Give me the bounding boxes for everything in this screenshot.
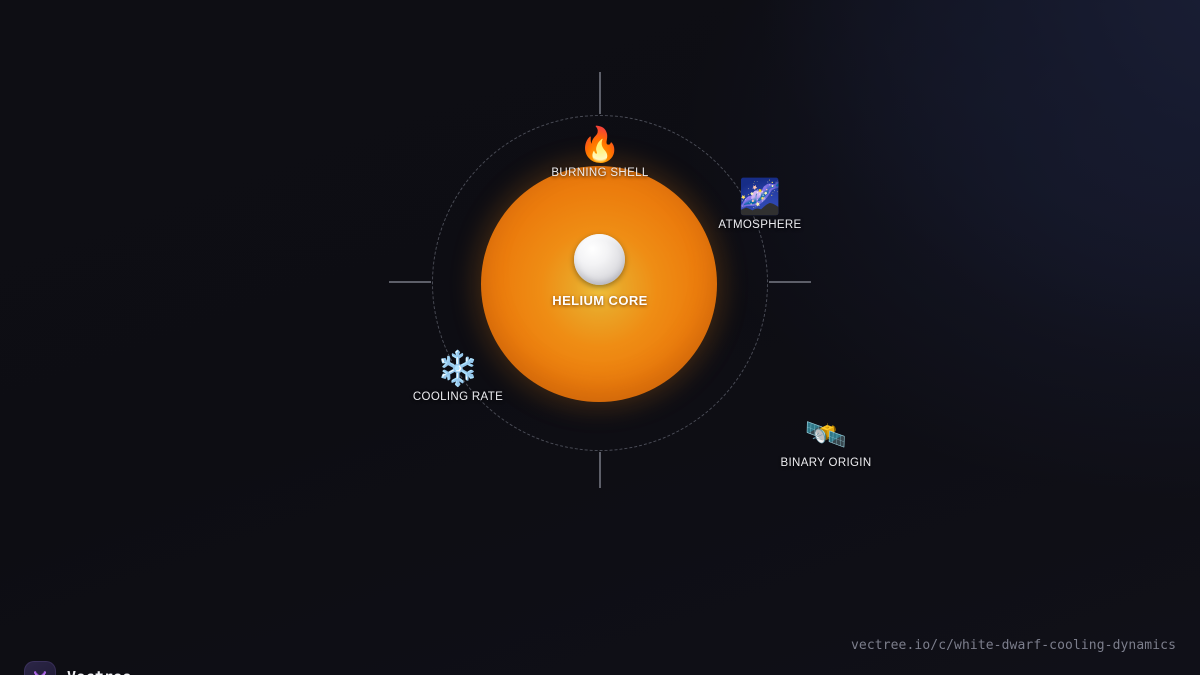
connector-line-top	[599, 72, 601, 114]
helium-core-label: HELIUM CORE	[552, 293, 647, 308]
node-binary-origin[interactable]: 🛰️ BINARY ORIGIN	[780, 418, 871, 469]
fire-icon: 🔥	[579, 128, 621, 162]
connector-line-left	[389, 281, 431, 283]
vectree-logo-icon	[24, 661, 56, 675]
node-burning-shell[interactable]: 🔥 BURNING SHELL	[551, 128, 648, 179]
node-atmosphere[interactable]: 🌌 ATMOSPHERE	[718, 180, 801, 231]
node-binary-origin-label: BINARY ORIGIN	[780, 457, 871, 469]
helium-core-sphere	[574, 234, 625, 285]
node-burning-shell-label: BURNING SHELL	[551, 167, 648, 179]
source-url: vectree.io/c/white-dwarf-cooling-dynamic…	[851, 638, 1176, 653]
node-atmosphere-label: ATMOSPHERE	[718, 219, 801, 231]
milky-way-icon: 🌌	[739, 180, 781, 214]
connector-line-right	[769, 281, 811, 283]
snowflake-icon: ❄️	[437, 352, 479, 386]
node-cooling-rate-label: COOLING RATE	[413, 391, 503, 403]
brand-block[interactable]: Vectree	[24, 661, 132, 675]
satellite-icon: 🛰️	[805, 418, 847, 452]
node-cooling-rate[interactable]: ❄️ COOLING RATE	[413, 352, 503, 403]
connector-line-bottom	[599, 452, 601, 488]
slide-canvas: HELIUM CORE 🔥 BURNING SHELL 🌌 ATMOSPHERE…	[0, 0, 1200, 675]
brand-name: Vectree	[67, 668, 132, 675]
slide-footer: Vectree Cooling rates and atmospheric co…	[0, 661, 1200, 675]
white-dwarf-structure-diagram: HELIUM CORE 🔥 BURNING SHELL 🌌 ATMOSPHERE…	[0, 0, 1200, 500]
